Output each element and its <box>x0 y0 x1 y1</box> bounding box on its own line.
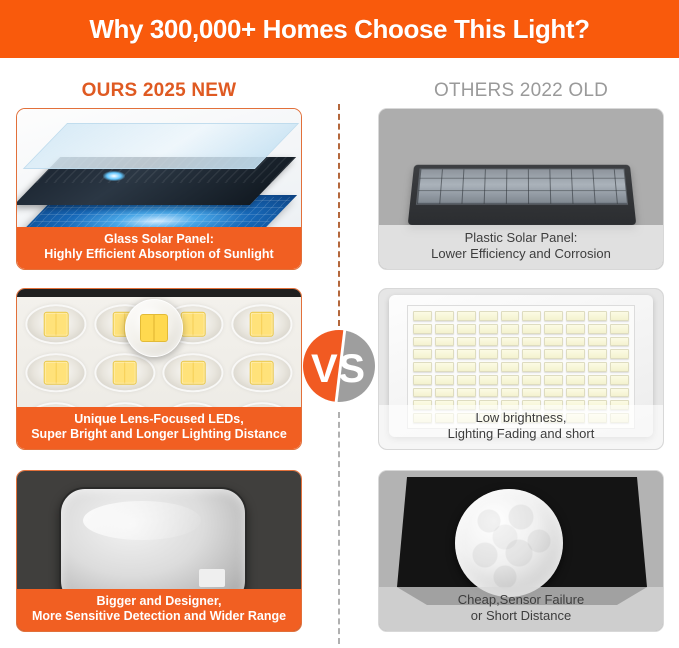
caption-line-1: Plastic Solar Panel: <box>385 230 657 246</box>
smd-chip <box>457 349 476 359</box>
smd-chip <box>566 362 585 372</box>
smd-chip <box>413 349 432 359</box>
smd-chip <box>566 324 585 334</box>
vs-letter-s: S <box>338 349 365 389</box>
smd-chip <box>566 311 585 321</box>
smd-chip <box>522 349 541 359</box>
sensor-housing <box>397 477 647 605</box>
smd-chip <box>522 337 541 347</box>
smd-chip <box>501 349 520 359</box>
smd-chip <box>479 311 498 321</box>
smd-chip <box>522 324 541 334</box>
smd-chip <box>610 324 629 334</box>
smd-chip <box>522 311 541 321</box>
caption-line-2: More Sensitive Detection and Wider Range <box>23 609 295 624</box>
led-lens <box>229 301 296 348</box>
led-lens <box>160 350 227 397</box>
caption-others-led-array: Low brightness, Lighting Fading and shor… <box>379 405 663 449</box>
sensor-chip <box>199 569 225 587</box>
divider-line-top <box>338 104 340 326</box>
caption-ours-solar-panel: Glass Solar Panel: Highly Efficient Abso… <box>17 227 301 270</box>
caption-line-1: Low brightness, <box>385 410 657 426</box>
pir-dome <box>455 489 563 597</box>
caption-line-2: Super Bright and Longer Lighting Distanc… <box>23 427 295 442</box>
page-title: Why 300,000+ Homes Choose This Light? <box>89 14 589 45</box>
smd-chip <box>479 337 498 347</box>
smd-chip <box>544 337 563 347</box>
card-others-led-array: Low brightness, Lighting Fading and shor… <box>378 288 664 450</box>
smd-chip <box>413 362 432 372</box>
smd-chip <box>457 311 476 321</box>
header-banner: Why 300,000+ Homes Choose This Light? <box>0 0 679 58</box>
column-heading-ours: OURS 2025 NEW <box>16 78 302 104</box>
panel-cell-face <box>416 168 628 204</box>
caption-line-1: Unique Lens-Focused LEDs, <box>23 412 295 427</box>
led-lens <box>23 301 90 348</box>
caption-line-2: Lower Efficiency and Corrosion <box>385 246 657 262</box>
comparison-infographic: Why 300,000+ Homes Choose This Light? OU… <box>0 0 679 648</box>
card-others-motion-sensor: Cheap,Sensor Failure or Short Distance <box>378 470 664 632</box>
smd-chip <box>413 337 432 347</box>
led-lens <box>23 350 90 397</box>
card-ours-solar-panel: Glass Solar Panel: Highly Efficient Abso… <box>16 108 302 270</box>
light-glow <box>103 171 125 181</box>
smd-chip <box>588 337 607 347</box>
smd-chip <box>588 349 607 359</box>
smd-chip <box>457 388 476 398</box>
caption-line-2: or Short Distance <box>385 608 657 624</box>
vs-badge: V S <box>303 330 375 402</box>
smd-chip <box>479 375 498 385</box>
smd-chip <box>413 324 432 334</box>
card-ours-motion-sensor: Bigger and Designer, More Sensitive Dete… <box>16 470 302 632</box>
smd-chip <box>588 324 607 334</box>
smd-chip <box>522 362 541 372</box>
vs-letter-v: V <box>311 349 338 389</box>
smd-chip <box>457 324 476 334</box>
smd-chip <box>435 362 454 372</box>
caption-line-2: Highly Efficient Absorption of Sunlight <box>23 247 295 262</box>
smd-chip <box>588 311 607 321</box>
smd-chip <box>610 311 629 321</box>
smd-chip <box>566 388 585 398</box>
smd-chip <box>479 362 498 372</box>
smd-chip <box>457 337 476 347</box>
smd-chip <box>479 349 498 359</box>
smd-chip <box>413 388 432 398</box>
smd-chip <box>544 375 563 385</box>
card-ours-led-array: Unique Lens-Focused LEDs, Super Bright a… <box>16 288 302 450</box>
smd-chip <box>566 349 585 359</box>
smd-chip <box>501 375 520 385</box>
smd-chip <box>435 375 454 385</box>
smd-chip <box>588 375 607 385</box>
smd-chip <box>501 324 520 334</box>
smd-chip <box>566 337 585 347</box>
smd-chip <box>479 324 498 334</box>
glass-layer <box>23 123 299 169</box>
smd-chip <box>610 362 629 372</box>
caption-ours-led-array: Unique Lens-Focused LEDs, Super Bright a… <box>17 407 301 450</box>
smd-chip <box>501 337 520 347</box>
smd-chip <box>435 324 454 334</box>
caption-ours-motion-sensor: Bigger and Designer, More Sensitive Dete… <box>17 589 301 632</box>
smd-chip <box>435 337 454 347</box>
smd-chip <box>501 311 520 321</box>
smd-chip <box>544 349 563 359</box>
smd-chip <box>413 375 432 385</box>
divider-line-bottom <box>338 412 340 644</box>
caption-others-solar-panel: Plastic Solar Panel: Lower Efficiency an… <box>379 225 663 269</box>
smd-chip <box>588 362 607 372</box>
smd-chip <box>544 324 563 334</box>
caption-line-1: Glass Solar Panel: <box>23 232 295 247</box>
smd-chip <box>544 311 563 321</box>
caption-line-1: Bigger and Designer, <box>23 594 295 609</box>
card-others-solar-panel: Plastic Solar Panel: Lower Efficiency an… <box>378 108 664 270</box>
smd-chip <box>479 388 498 398</box>
smd-chip <box>588 388 607 398</box>
panel-body <box>408 165 637 225</box>
smd-chip <box>435 349 454 359</box>
smd-chip <box>610 349 629 359</box>
smd-chip <box>544 362 563 372</box>
led-lens <box>229 350 296 397</box>
smd-chip <box>501 388 520 398</box>
smd-chip <box>610 388 629 398</box>
caption-line-1: Cheap,Sensor Failure <box>385 592 657 608</box>
smd-chip <box>435 388 454 398</box>
smd-chip <box>435 311 454 321</box>
column-heading-others: OTHERS 2022 OLD <box>378 78 664 104</box>
magnified-lens-bubble <box>125 299 183 357</box>
smd-chip <box>522 375 541 385</box>
smd-chip <box>457 375 476 385</box>
smd-chip <box>501 362 520 372</box>
smd-chip <box>610 337 629 347</box>
smd-chip <box>544 388 563 398</box>
smd-chip <box>522 388 541 398</box>
smd-chip <box>413 311 432 321</box>
smd-chip <box>566 375 585 385</box>
caption-others-motion-sensor: Cheap,Sensor Failure or Short Distance <box>379 587 663 631</box>
led-lens <box>92 350 159 397</box>
caption-line-2: Lighting Fading and short <box>385 426 657 442</box>
smd-chip <box>610 375 629 385</box>
smd-chip <box>457 362 476 372</box>
